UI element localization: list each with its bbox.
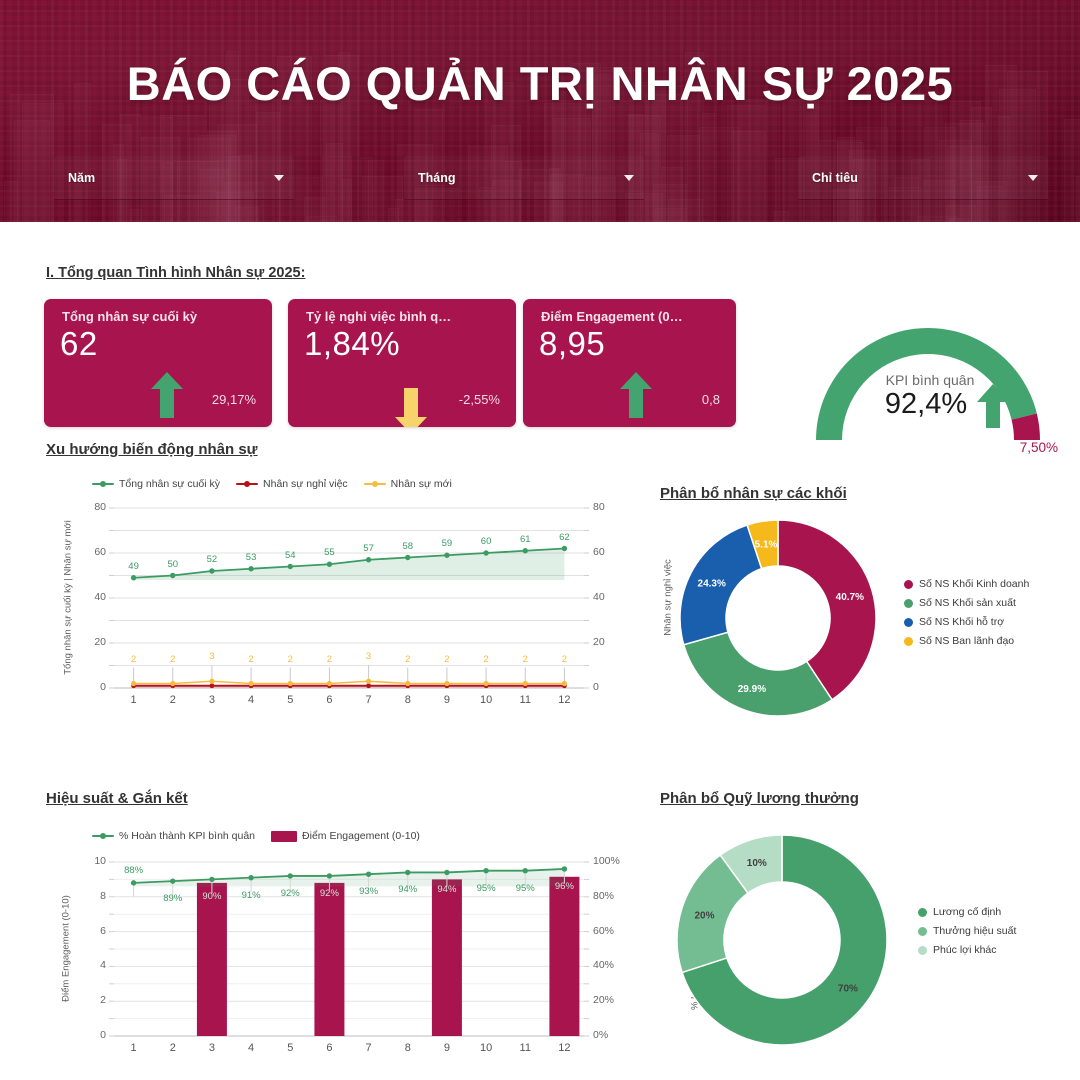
- legend-label: Lương cố định: [933, 906, 1001, 918]
- slice-label: 24.3%: [698, 578, 726, 589]
- axis-tick-y2: 0%: [593, 1029, 608, 1041]
- axis-title-y: Tổng nhân sự cuối kỳ | Nhân sự mới: [63, 498, 74, 698]
- legend-item[interactable]: Số NS Khối Kinh doanh: [904, 578, 1029, 590]
- axis-tick-y: 4: [80, 959, 106, 971]
- chart-title-headcount-trend: Xu hướng biến động nhân sự: [46, 441, 258, 458]
- axis-tick-y: 80: [80, 501, 106, 513]
- chart-compensation-fund[interactable]: 70%20%10%Lương cố địnhThưởng hiệu suấtPh…: [656, 820, 1076, 1060]
- axis-tick-x: 1: [122, 694, 146, 706]
- chevron-down-icon[interactable]: [274, 175, 284, 181]
- filter-month[interactable]: Tháng: [404, 156, 644, 200]
- axis-tick-x: 8: [396, 1042, 420, 1054]
- axis-tick-x: 8: [396, 694, 420, 706]
- chart-title-headcount-by-block: Phân bổ nhân sự các khối: [660, 485, 847, 502]
- data-label: 2: [280, 654, 300, 665]
- arrow-down-icon: [394, 387, 428, 427]
- legend-label: Số NS Khối Kinh doanh: [919, 578, 1029, 590]
- kpi-card-delta: 29,17%: [212, 392, 256, 407]
- gauge-delta: 7,50%: [1020, 440, 1058, 455]
- legend-swatch: [918, 927, 927, 936]
- axis-tick-y2: 60%: [593, 925, 614, 937]
- axis-tick-y: 20: [80, 636, 106, 648]
- data-label: 2: [163, 654, 183, 665]
- data-label: 92%: [274, 888, 306, 899]
- data-label: 2: [398, 654, 418, 665]
- axis-tick-y: 0: [80, 681, 106, 693]
- slice-label: 20%: [694, 910, 714, 921]
- axis-tick-y2: 40: [593, 591, 605, 603]
- axis-tick-y2: 100%: [593, 855, 620, 867]
- legend-swatch: [918, 908, 927, 917]
- axis-tick-x: 2: [161, 694, 185, 706]
- legend-swatch: [918, 946, 927, 955]
- axis-tick-x: 3: [200, 694, 224, 706]
- data-label: 91%: [235, 890, 267, 901]
- legend-item[interactable]: Số NS Khối sản xuất: [904, 597, 1029, 609]
- chart-headcount-by-block[interactable]: 40.7%29.9%24.3%5.1%Số NS Khối Kinh doanh…: [656, 510, 1076, 730]
- legend-item[interactable]: Thưởng hiệu suất: [918, 925, 1016, 937]
- axis-tick-y: 6: [80, 925, 106, 937]
- kpi-card-engagement-score[interactable]: Điểm Engagement (0… 8,95 0,8: [523, 299, 736, 427]
- data-label: 2: [124, 654, 144, 665]
- data-label: 54: [278, 550, 302, 561]
- data-label: 2: [554, 654, 574, 665]
- data-label: 94%: [392, 884, 424, 895]
- axis-tick-y: 60: [80, 546, 106, 558]
- axis-tick-x: 4: [239, 1042, 263, 1054]
- data-label: 59: [435, 538, 459, 549]
- data-label: 2: [476, 654, 496, 665]
- data-label: 88%: [118, 865, 150, 876]
- axis-tick-y2: 20: [593, 636, 605, 648]
- filter-kpi[interactable]: Chỉ tiêu: [798, 156, 1048, 200]
- kpi-card-attrition-rate[interactable]: Tỷ lệ nghỉ việc bình q… 1,84% -2,55%: [288, 299, 516, 427]
- kpi-card-delta: -2,55%: [459, 392, 500, 407]
- data-label: 94%: [431, 884, 463, 895]
- arrow-up-icon: [150, 371, 184, 419]
- axis-tick-y2: 80: [593, 501, 605, 513]
- axis-tick-x: 4: [239, 694, 263, 706]
- axis-tick-y: 40: [80, 591, 106, 603]
- dashboard-header: BÁO CÁO QUẢN TRỊ NHÂN SỰ 2025 Năm Tháng …: [0, 0, 1080, 222]
- section-overview-heading: I. Tổng quan Tình hình Nhân sự 2025:: [46, 265, 305, 281]
- legend-label: Số NS Khối hỗ trợ: [919, 616, 1004, 628]
- plot-area: [44, 470, 644, 730]
- data-label: 93%: [353, 886, 385, 897]
- data-label: 58: [396, 541, 420, 552]
- data-label: 2: [319, 654, 339, 665]
- kpi-card-total-headcount[interactable]: Tổng nhân sự cuối kỳ 62 29,17%: [44, 299, 272, 427]
- data-label: 95%: [509, 883, 541, 894]
- axis-tick-x: 3: [200, 1042, 224, 1054]
- kpi-card-delta: 0,8: [702, 392, 720, 407]
- axis-tick-y: 0: [80, 1029, 106, 1041]
- legend-swatch: [904, 637, 913, 646]
- axis-tick-x: 6: [317, 694, 341, 706]
- data-label: 52: [200, 554, 224, 565]
- axis-tick-x: 6: [317, 1042, 341, 1054]
- kpi-card-title: Tổng nhân sự cuối kỳ: [62, 309, 262, 324]
- legend-item[interactable]: Số NS Khối hỗ trợ: [904, 616, 1029, 628]
- filter-year-label: Năm: [68, 171, 274, 185]
- gauge-label: KPI bình quân: [806, 372, 1054, 388]
- legend-item[interactable]: Số NS Ban lãnh đạo: [904, 635, 1029, 647]
- legend-item[interactable]: Phúc lợi khác: [918, 944, 1016, 956]
- chart-title-performance-engagement: Hiệu suất & Gắn kết: [46, 790, 188, 807]
- axis-tick-x: 7: [357, 694, 381, 706]
- slice-label: 70%: [838, 983, 858, 994]
- legend-label: Số NS Ban lãnh đạo: [919, 635, 1014, 647]
- legend-label: Thưởng hiệu suất: [933, 925, 1016, 937]
- data-label: 89%: [157, 893, 189, 904]
- chart-title-compensation-fund: Phân bổ Quỹ lương thưởng: [660, 790, 859, 807]
- legend-swatch: [904, 580, 913, 589]
- data-label: 96%: [548, 881, 580, 892]
- axis-tick-x: 2: [161, 1042, 185, 1054]
- slice-label: 29.9%: [738, 684, 766, 695]
- slice-label: 10%: [747, 858, 767, 869]
- axis-tick-x: 10: [474, 694, 498, 706]
- data-label: 2: [437, 654, 457, 665]
- chart-performance-engagement[interactable]: % Hoàn thành KPI bình quânĐiểm Engagemen…: [44, 820, 644, 1075]
- data-label: 50: [161, 559, 185, 570]
- kpi-card-value: 1,84%: [304, 325, 400, 363]
- axis-tick-y2: 40%: [593, 959, 614, 971]
- chart-headcount-trend[interactable]: Tổng nhân sự cuối kỳNhân sự nghỉ việcNhâ…: [44, 470, 644, 730]
- axis-tick-y2: 20%: [593, 994, 614, 1006]
- data-label: 62: [552, 532, 576, 543]
- data-label: 60: [474, 536, 498, 547]
- plot-area: [44, 820, 644, 1075]
- data-label: 57: [357, 543, 381, 554]
- kpi-card-title: Điểm Engagement (0…: [541, 309, 726, 324]
- axis-tick-x: 5: [278, 694, 302, 706]
- data-label: 53: [239, 552, 263, 563]
- axis-tick-x: 7: [357, 1042, 381, 1054]
- data-label: 2: [241, 654, 261, 665]
- axis-tick-x: 1: [122, 1042, 146, 1054]
- kpi-card-value: 62: [60, 325, 98, 363]
- kpi-card-title: Tỷ lệ nghỉ việc bình q…: [306, 309, 506, 324]
- data-label: 61: [513, 534, 537, 545]
- axis-tick-x: 11: [513, 1042, 537, 1054]
- legend-label: Số NS Khối sản xuất: [919, 597, 1016, 609]
- axis-tick-y: 2: [80, 994, 106, 1006]
- axis-title-y: Điểm Engagement (0-10): [61, 869, 72, 1029]
- gauge-value: 92,4%: [806, 388, 1046, 421]
- axis-tick-x: 5: [278, 1042, 302, 1054]
- axis-tick-x: 9: [435, 694, 459, 706]
- data-label: 3: [359, 651, 379, 662]
- data-label: 2: [515, 654, 535, 665]
- legend-item[interactable]: Lương cố định: [918, 906, 1016, 918]
- kpi-card-value: 8,95: [539, 325, 605, 363]
- data-label: 3: [202, 651, 222, 662]
- legend-swatch: [904, 599, 913, 608]
- data-label: 49: [122, 561, 146, 572]
- arrow-up-icon: [976, 383, 1010, 429]
- axis-tick-x: 12: [552, 1042, 576, 1054]
- filter-month-label: Tháng: [418, 171, 624, 185]
- axis-tick-y2: 80%: [593, 890, 614, 902]
- axis-tick-y: 8: [80, 890, 106, 902]
- data-label: 95%: [470, 883, 502, 894]
- data-label: 90%: [196, 891, 228, 902]
- filter-bar: Năm Tháng Chỉ tiêu: [0, 156, 1080, 206]
- chevron-down-icon[interactable]: [624, 175, 634, 181]
- axis-tick-x: 9: [435, 1042, 459, 1054]
- page-title: BÁO CÁO QUẢN TRỊ NHÂN SỰ 2025: [0, 56, 1080, 111]
- slice-label: 5.1%: [755, 539, 778, 550]
- arrow-up-icon: [619, 371, 653, 419]
- axis-tick-y2: 60: [593, 546, 605, 558]
- filter-kpi-label: Chỉ tiêu: [812, 171, 1028, 185]
- chevron-down-icon[interactable]: [1028, 175, 1038, 181]
- axis-tick-x: 11: [513, 694, 537, 706]
- legend-swatch: [904, 618, 913, 627]
- slice-label: 40.7%: [836, 592, 864, 603]
- data-label: 92%: [313, 888, 345, 899]
- chart-legend: Lương cố địnhThưởng hiệu suấtPhúc lợi kh…: [918, 906, 1016, 956]
- chart-legend: Số NS Khối Kinh doanhSố NS Khối sản xuất…: [904, 578, 1029, 647]
- kpi-gauge: KPI bình quân 92,4% 7,50%: [806, 300, 1068, 460]
- axis-tick-x: 12: [552, 694, 576, 706]
- axis-tick-x: 10: [474, 1042, 498, 1054]
- axis-tick-y2: 0: [593, 681, 599, 693]
- legend-label: Phúc lợi khác: [933, 944, 997, 956]
- data-label: 55: [317, 547, 341, 558]
- axis-tick-y: 10: [80, 855, 106, 867]
- filter-year[interactable]: Năm: [54, 156, 294, 200]
